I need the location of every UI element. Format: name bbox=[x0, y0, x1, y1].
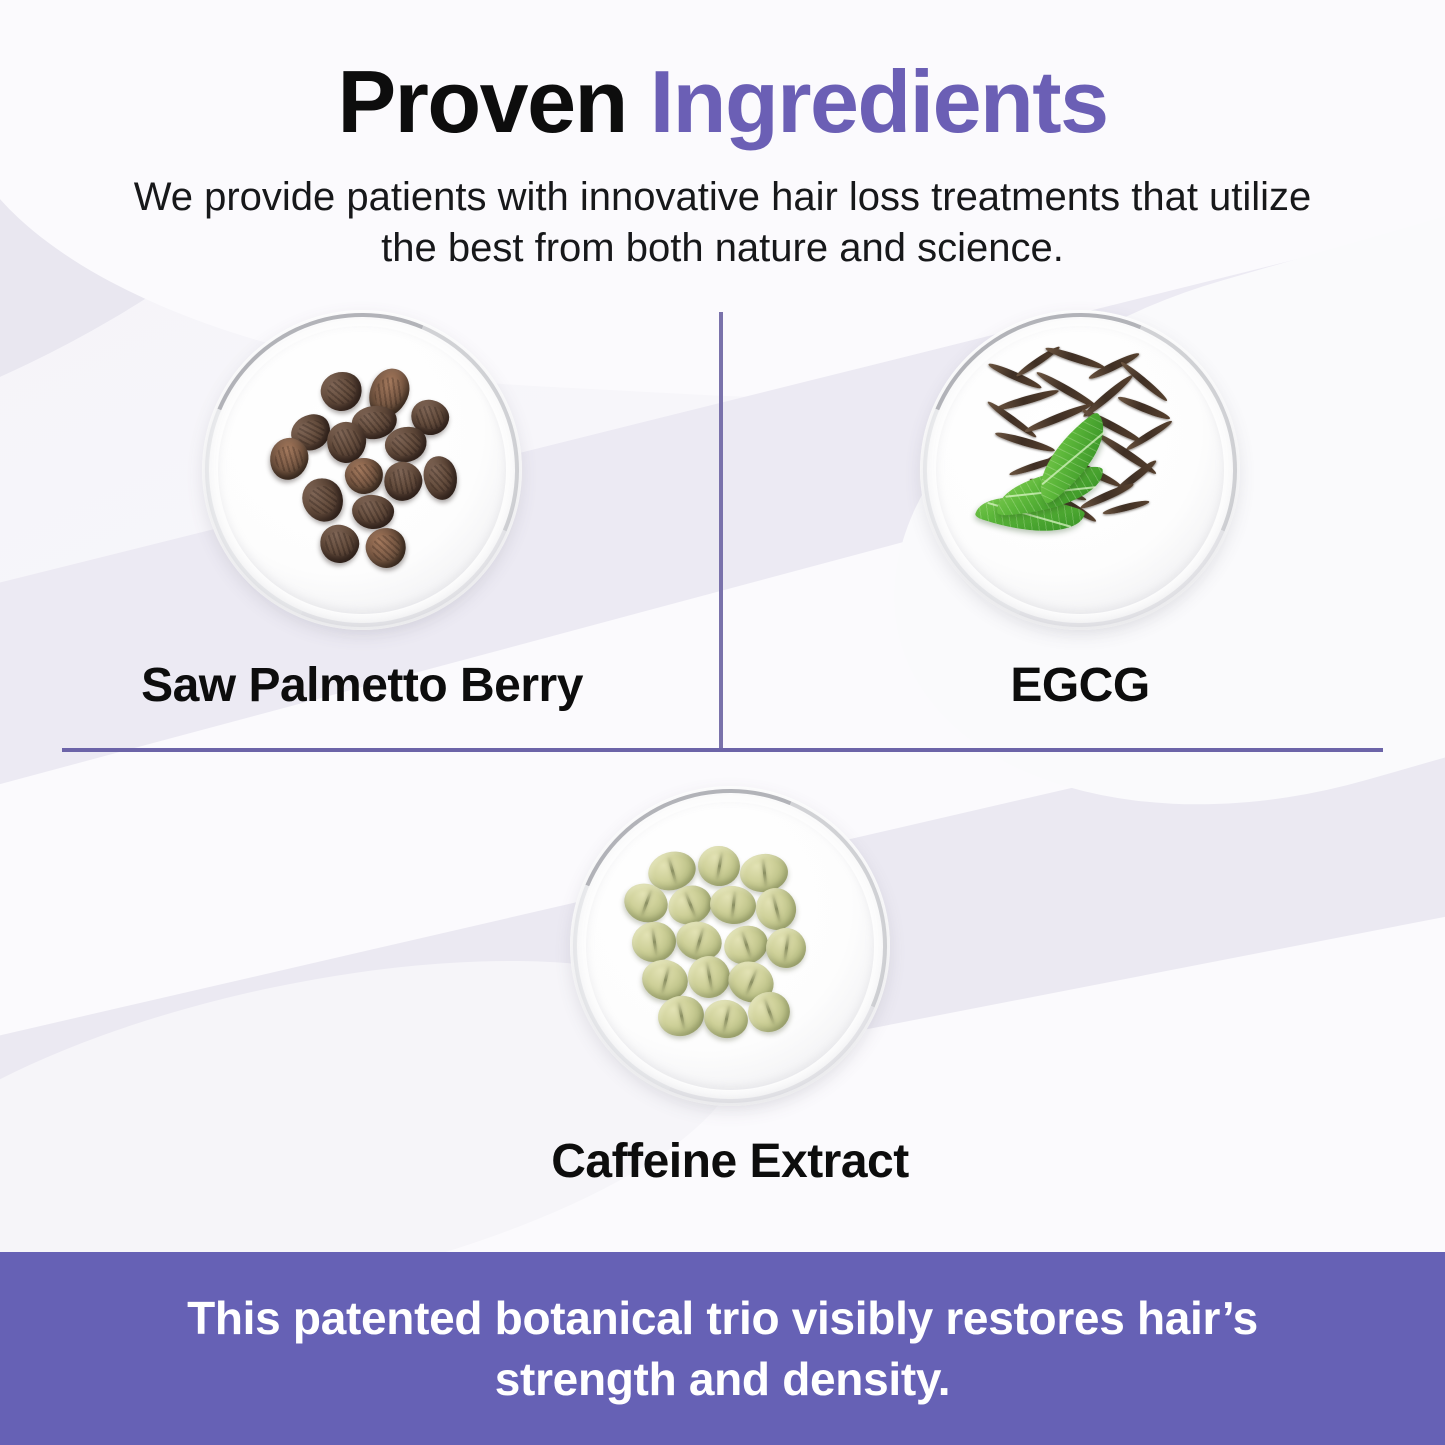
page-title: Proven Ingredients bbox=[0, 0, 1445, 146]
horizontal-divider bbox=[62, 748, 1383, 752]
petri-dish-icon bbox=[920, 310, 1240, 630]
saw-palmetto-berries-icon bbox=[202, 310, 522, 630]
page-title-part-two: Ingredients bbox=[650, 52, 1108, 151]
ingredient-label-caffeine-extract: Caffeine Extract bbox=[430, 1134, 1030, 1189]
petri-dish-icon bbox=[570, 786, 890, 1106]
green-tea-leaves-icon bbox=[920, 310, 1240, 630]
vertical-divider bbox=[719, 312, 723, 749]
ingredient-label-saw-palmetto-berry: Saw Palmetto Berry bbox=[62, 658, 662, 713]
ingredient-label-egcg: EGCG bbox=[780, 658, 1380, 713]
page-subtitle: We provide patients with innovative hair… bbox=[103, 172, 1343, 274]
page-title-part-one: Proven bbox=[337, 52, 649, 151]
ingredient-panel-saw-palmetto-berry: Saw Palmetto Berry bbox=[62, 310, 662, 713]
ingredients-infographic: Proven Ingredients We provide patients w… bbox=[0, 0, 1445, 1445]
header: Proven Ingredients We provide patients w… bbox=[0, 0, 1445, 274]
ingredient-panel-caffeine-extract: Caffeine Extract bbox=[430, 786, 1030, 1189]
bottom-banner: This patented botanical trio visibly res… bbox=[0, 1252, 1445, 1445]
petri-dish-icon bbox=[202, 310, 522, 630]
ingredient-panel-egcg: EGCG bbox=[780, 310, 1380, 713]
green-coffee-beans-icon bbox=[570, 786, 890, 1106]
bottom-banner-text: This patented botanical trio visibly res… bbox=[153, 1288, 1293, 1409]
